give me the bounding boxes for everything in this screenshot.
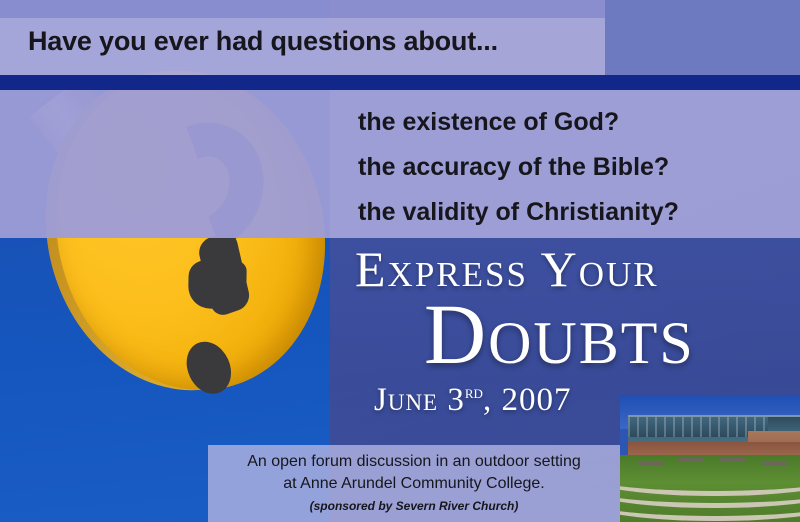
date-year: , 2007 [483,382,572,418]
sponsor-line: (sponsored by Severn River Church) [208,499,620,513]
question-line-2: the accuracy of the Bible? [358,145,788,190]
question-mark-stem-lower [188,260,247,309]
question-line-1: the existence of God? [358,100,788,145]
description-line-1: An open forum discussion in an outdoor s… [208,453,620,471]
photo-bench [762,461,788,465]
photo-tier [620,507,800,522]
headline-line-2: Doubts [424,284,695,384]
amphitheater-photo [620,395,800,522]
navy-stripe [0,75,800,90]
photo-bench [720,458,746,462]
photo-bench [678,458,704,462]
question-list: the existence of God? the accuracy of th… [358,100,788,235]
header-band-right [605,0,800,75]
question-mark-dot [178,334,239,401]
event-date: June 3rd, 2007 [374,382,571,419]
page-title: Have you ever had questions about... [28,26,603,57]
photo-bench [638,461,664,465]
photo-glass-facade [628,417,768,437]
question-line-3: the validity of Christianity? [358,190,788,235]
mid-band-left-overlay [0,90,330,238]
date-month-day: June 3 [374,382,465,418]
date-ordinal-suffix: rd [465,382,483,402]
poster: Have you ever had questions about... the… [0,0,800,522]
description-plate: An open forum discussion in an outdoor s… [208,445,620,522]
description-line-2: at Anne Arundel Community College. [208,475,620,493]
